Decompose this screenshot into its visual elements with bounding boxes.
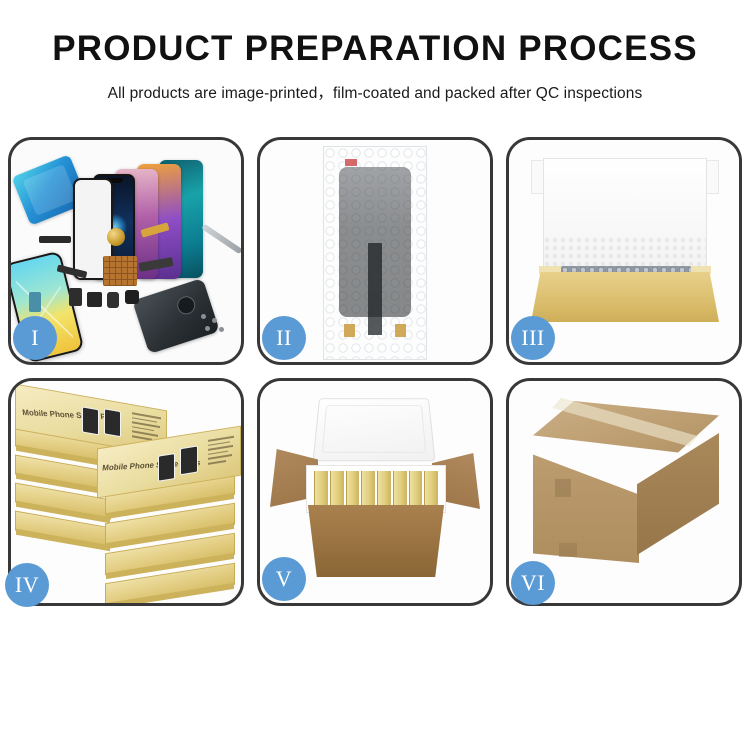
box-phone-thumb-3 [158,453,175,482]
copper-grid-chip [103,256,137,286]
carton-body [302,505,450,577]
box-phone-thumb-1 [82,406,99,435]
process-step-panel-4: Mobile Phone Spare Parts Mobile Phone Sp… [8,378,244,606]
styrofoam-lid [313,398,436,461]
gold-box-stack: Mobile Phone Spare Parts Mobile Phone Sp… [15,391,241,603]
lcd-flex-cable [368,243,382,335]
screws-group [201,314,227,332]
process-step-panel-2: II [257,137,493,365]
process-step-panel-6: VI [506,378,742,606]
process-step-panel-5: V [257,378,493,606]
small-part-5 [29,292,41,312]
step-badge-4: IV [5,563,49,607]
coil-part-icon [107,228,125,246]
small-part-2 [87,292,102,307]
step-4-image: Mobile Phone Spare Parts Mobile Phone Sp… [11,381,241,603]
connector-strip [39,236,71,243]
box-spec-lines-front [208,435,238,467]
step-badge-6: VI [511,561,555,605]
carton-mark-lower [559,543,577,557]
step-badge-5: V [262,557,306,601]
step-badge-1: I [13,316,57,360]
process-step-panel-3: III [506,137,742,365]
gold-boxes-row [314,471,438,507]
page-header: PRODUCT PREPARATION PROCESS All products… [0,0,750,103]
small-part-3 [107,292,119,308]
process-step-panel-1: I [8,137,244,365]
step-badge-2: II [262,316,306,360]
small-part-4 [125,290,139,304]
carton-front-face [533,445,639,563]
lcd-gold-tab-left [344,324,355,337]
sealed-carton [533,401,719,573]
box-phone-thumb-2 [104,408,121,437]
open-gold-box [527,154,723,340]
lcd-gold-tab-right [395,324,406,337]
page-title: PRODUCT PREPARATION PROCESS [0,30,750,69]
page-subtitle: All products are image-printed，film-coat… [0,81,750,103]
small-part-1 [69,288,82,306]
step-badge-3: III [511,316,555,360]
carton-mark-upper [555,479,571,497]
bubble-wrap-package [323,146,427,360]
gold-box-base [531,272,719,322]
box-phone-thumb-4 [180,445,198,475]
process-steps-grid: I II III [8,137,742,702]
red-qc-mark [345,159,357,166]
